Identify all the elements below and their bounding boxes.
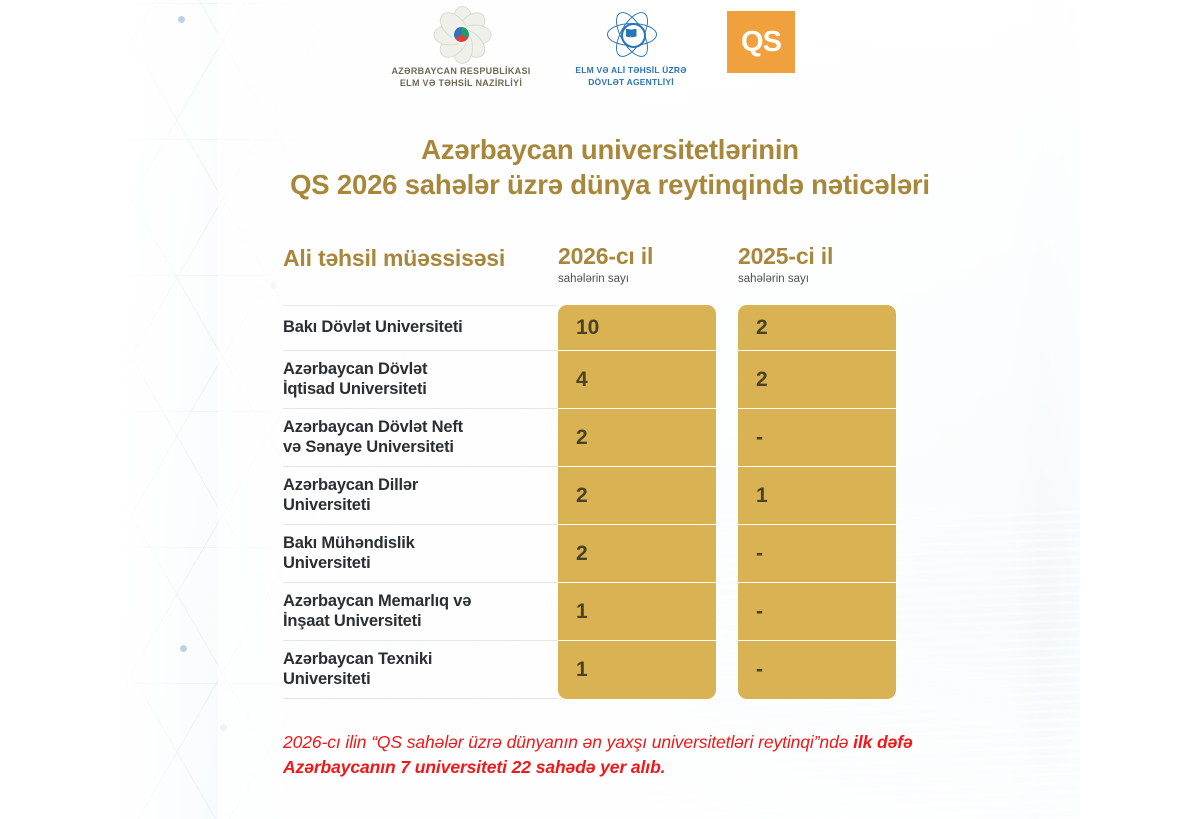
column-header-2026-sub: sahələrin sayı bbox=[558, 273, 716, 285]
column-header-2026: 2026-cı il sahələrin sayı bbox=[558, 243, 716, 285]
row-institution-name: Azərbaycan DillərUniversiteti bbox=[283, 467, 558, 525]
row-value-2026: 2 bbox=[558, 525, 716, 583]
row-value-2025: - bbox=[738, 641, 896, 699]
qs-logo: QS bbox=[727, 11, 795, 73]
row-institution-name: Bakı MühəndislikUniversiteti bbox=[283, 525, 558, 583]
row-institution-name: Azərbaycan Memarlıq vəİnşaat Universitet… bbox=[283, 583, 558, 641]
emblem-core-icon bbox=[454, 27, 469, 42]
table-row: Azərbaycan Dövlətİqtisad Universiteti42 bbox=[283, 351, 903, 409]
row-value-2026: 10 bbox=[558, 305, 716, 351]
background-fade-left bbox=[0, 0, 230, 819]
row-institution-name: Azərbaycan Dövlət Neftvə Sənaye Universi… bbox=[283, 409, 558, 467]
row-value-2025: 2 bbox=[738, 305, 896, 351]
qs-logo-box: QS bbox=[727, 11, 795, 73]
row-institution-name: Azərbaycan Dövlətİqtisad Universiteti bbox=[283, 351, 558, 409]
column-header-2026-year: 2026-cı il bbox=[558, 243, 716, 270]
row-value-2025: - bbox=[738, 525, 896, 583]
azerbaijan-ministry-emblem-icon bbox=[435, 8, 487, 60]
ministry-caption-line1: AZƏRBAYCAN RESPUBLİKASI bbox=[352, 65, 570, 77]
row-value-2026: 1 bbox=[558, 641, 716, 699]
ministry-caption-line2: ELM VƏ TƏHSİL NAZİRLİYİ bbox=[352, 77, 570, 89]
row-value-2026: 4 bbox=[558, 351, 716, 409]
agency-logo: ELM VƏ ALİ TƏHSİL ÜZRƏ DÖVLƏT AGENTLİYİ bbox=[540, 8, 722, 89]
row-value-2025: - bbox=[738, 583, 896, 641]
table-row: Bakı MühəndislikUniversiteti2- bbox=[283, 525, 903, 583]
infographic-canvas: AZƏRBAYCAN RESPUBLİKASI ELM VƏ TƏHSİL NA… bbox=[0, 0, 1200, 819]
results-table: Ali təhsil müəssisəsi 2026-cı il sahələr… bbox=[283, 243, 903, 699]
table-row: Bakı Dövlət Universiteti102 bbox=[283, 305, 903, 351]
logo-bar: AZƏRBAYCAN RESPUBLİKASI ELM VƏ TƏHSİL NA… bbox=[0, 0, 1200, 104]
page-title: Azərbaycan universitetlərinin QS 2026 sa… bbox=[180, 132, 1040, 202]
row-value-2025: - bbox=[738, 409, 896, 467]
table-row: Azərbaycan Dövlət Neftvə Sənaye Universi… bbox=[283, 409, 903, 467]
table-row: Azərbaycan Memarlıq vəİnşaat Universitet… bbox=[283, 583, 903, 641]
table-body: Bakı Dövlət Universiteti102Azərbaycan Dö… bbox=[283, 305, 903, 699]
row-institution-name: Azərbaycan TexnikiUniversiteti bbox=[283, 641, 558, 699]
row-value-2026: 2 bbox=[558, 467, 716, 525]
title-line-2: QS 2026 sahələr üzrə dünya reytinqində n… bbox=[180, 167, 1040, 202]
atom-book-icon bbox=[606, 8, 656, 58]
table-header: Ali təhsil müəssisəsi 2026-cı il sahələr… bbox=[283, 243, 903, 305]
table-row: Azərbaycan TexnikiUniversiteti1- bbox=[283, 641, 903, 699]
column-header-2025-year: 2025-ci il bbox=[738, 243, 896, 270]
title-line-1: Azərbaycan universitetlərinin bbox=[421, 134, 799, 165]
ministry-logo: AZƏRBAYCAN RESPUBLİKASI ELM VƏ TƏHSİL NA… bbox=[352, 8, 570, 89]
pattern-node-icon bbox=[180, 645, 187, 652]
agency-caption-line1: ELM VƏ ALİ TƏHSİL ÜZRƏ bbox=[540, 64, 722, 76]
row-value-2025: 1 bbox=[738, 467, 896, 525]
qs-logo-text: QS bbox=[741, 26, 781, 59]
column-header-2025-sub: sahələrin sayı bbox=[738, 273, 896, 285]
row-institution-name: Bakı Dövlət Universiteti bbox=[283, 305, 558, 351]
footer-note: 2026-cı ilin “QS sahələr üzrə dünyanın ə… bbox=[283, 730, 933, 781]
row-value-2026: 1 bbox=[558, 583, 716, 641]
column-header-2025: 2025-ci il sahələrin sayı bbox=[738, 243, 896, 285]
table-row: Azərbaycan DillərUniversiteti21 bbox=[283, 467, 903, 525]
agency-caption-line2: DÖVLƏT AGENTLİYİ bbox=[540, 76, 722, 88]
row-value-2025: 2 bbox=[738, 351, 896, 409]
column-header-institution: Ali təhsil müəssisəsi bbox=[283, 245, 505, 272]
footer-note-plain: 2026-cı ilin “QS sahələr üzrə dünyanın ə… bbox=[283, 732, 853, 752]
row-value-2026: 2 bbox=[558, 409, 716, 467]
